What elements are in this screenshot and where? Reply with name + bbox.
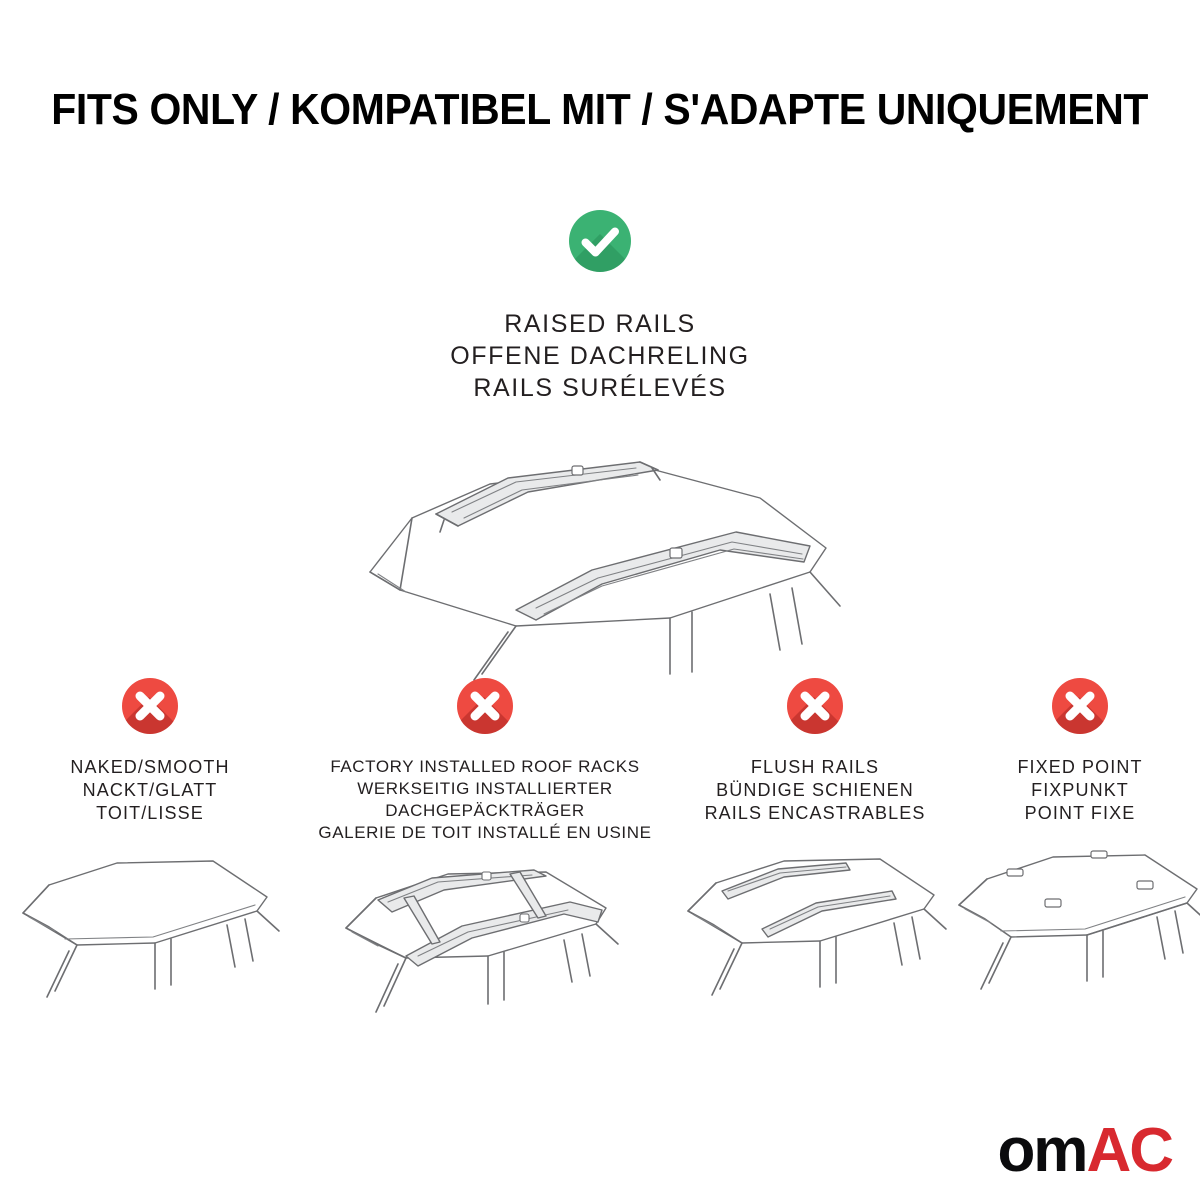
compatible-label-fr: RAILS SURÉLEVÉS — [450, 372, 749, 404]
label-de-1: WERKSEITIG INSTALLIERTER — [318, 778, 651, 800]
incompatible-item-factory-racks: FACTORY INSTALLED ROOF RACKS WERKSEITIG … — [300, 678, 670, 1063]
logo-text-dark: om — [997, 1120, 1086, 1182]
compatible-labels: RAISED RAILS OFFENE DACHRELING RAILS SUR… — [450, 308, 749, 404]
label-en: NAKED/SMOOTH — [70, 756, 229, 779]
label-en: FLUSH RAILS — [705, 756, 926, 779]
incompatible-item-flush-rails: FLUSH RAILS BÜNDIGE SCHIENEN RAILS ENCAS… — [670, 678, 960, 1044]
logo-text-red: AC — [1086, 1120, 1172, 1182]
incompatible-labels-fixed-point: FIXED POINT FIXPUNKT POINT FIXE — [1017, 756, 1142, 825]
incompatible-labels-flush-rails: FLUSH RAILS BÜNDIGE SCHIENEN RAILS ENCAS… — [705, 756, 926, 825]
label-de: FIXPUNKT — [1017, 779, 1142, 802]
x-circle-icon — [457, 678, 513, 734]
label-fr: RAILS ENCASTRABLES — [705, 802, 926, 825]
compatible-section: RAISED RAILS OFFENE DACHRELING RAILS SUR… — [0, 210, 1200, 687]
label-de: NACKT/GLATT — [70, 779, 229, 802]
label-en: FIXED POINT — [1017, 756, 1142, 779]
incompatible-section: NAKED/SMOOTH NACKT/GLATT TOIT/LISSE — [0, 678, 1200, 1063]
incompatible-item-naked-smooth: NAKED/SMOOTH NACKT/GLATT TOIT/LISSE — [0, 678, 300, 1044]
incompatible-labels-naked-smooth: NAKED/SMOOTH NACKT/GLATT TOIT/LISSE — [70, 756, 229, 825]
x-circle-icon — [1052, 678, 1108, 734]
incompatible-labels-factory-racks: FACTORY INSTALLED ROOF RACKS WERKSEITIG … — [318, 756, 651, 844]
label-de-2: DACHGEPÄCKTRÄGER — [318, 800, 651, 822]
incompatible-item-fixed-point: FIXED POINT FIXPUNKT POINT FIXE — [960, 678, 1200, 1044]
label-de: BÜNDIGE SCHIENEN — [705, 779, 926, 802]
x-circle-icon — [122, 678, 178, 734]
page-title: FITS ONLY / KOMPATIBEL MIT / S'ADAPTE UN… — [0, 84, 1200, 136]
omac-logo: om AC — [997, 1120, 1172, 1182]
label-fr: POINT FIXE — [1017, 802, 1142, 825]
check-circle-icon — [569, 210, 631, 272]
car-roof-naked-smooth-illustration — [5, 839, 295, 1044]
label-fr: GALERIE DE TOIT INSTALLÉ EN USINE — [318, 822, 651, 844]
page-title-text: FITS ONLY / KOMPATIBEL MIT / S'ADAPTE UN… — [52, 84, 1149, 136]
car-roof-flush-rails-illustration — [670, 839, 960, 1044]
x-circle-icon — [787, 678, 843, 734]
car-roof-factory-racks-illustration — [320, 858, 650, 1063]
compatible-label-de: OFFENE DACHRELING — [450, 340, 749, 372]
label-fr: TOIT/LISSE — [70, 802, 229, 825]
compatible-label-en: RAISED RAILS — [450, 308, 749, 340]
car-roof-fixed-point-illustration — [945, 839, 1200, 1044]
car-roof-raised-rails-illustration — [340, 422, 860, 687]
label-en: FACTORY INSTALLED ROOF RACKS — [318, 756, 651, 778]
